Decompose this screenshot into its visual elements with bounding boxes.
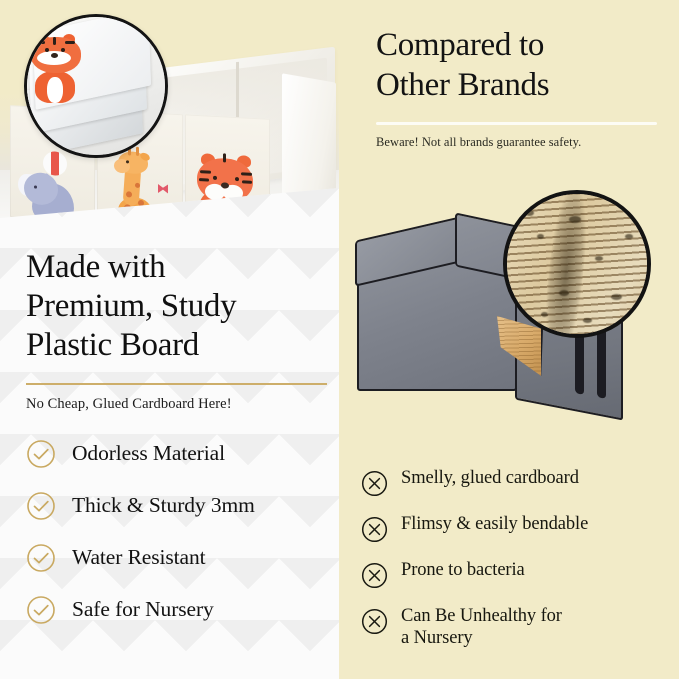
benefit-row: Safe for Nursery <box>26 595 317 625</box>
benefit-label: Safe for Nursery <box>72 597 214 622</box>
tiger-stripe <box>65 41 75 44</box>
benefits-list: Odorless Material Thick & Sturdy 3mm <box>26 439 317 625</box>
check-circle-icon <box>26 491 56 521</box>
mold-spot <box>559 290 569 296</box>
right-subline: Beware! Not all brands guarantee safety. <box>376 135 659 150</box>
mold-spot <box>569 216 581 223</box>
benefit-row: Water Resistant <box>26 543 317 573</box>
giraffe-spot <box>138 200 144 206</box>
left-subline: No Cheap, Glued Cardboard Here! <box>26 396 317 413</box>
elephant-eye <box>34 185 37 188</box>
moldy-cardboard-magnifier <box>503 190 651 338</box>
gold-divider <box>26 383 327 385</box>
tiger-print-detail <box>29 37 93 103</box>
giraffe-eye <box>126 160 129 163</box>
x-circle-icon <box>361 562 388 589</box>
drawback-label: Can Be Unhealthy for a Nursery <box>401 606 562 650</box>
mold-spot <box>611 294 622 300</box>
tiger-eye <box>61 48 65 52</box>
drawback-row: Prone to bacteria <box>361 560 671 589</box>
tiger-stripe <box>200 170 211 174</box>
drawback-label: Prone to bacteria <box>401 560 525 582</box>
mold-spot <box>595 256 603 261</box>
right-panel: Compared to Other Brands Beware! Not all… <box>339 0 679 679</box>
mold-spot <box>625 234 633 239</box>
butterfly-icon <box>158 184 168 194</box>
benefit-label: Thick & Sturdy 3mm <box>72 493 255 518</box>
drawbacks-list: Smelly, glued cardboard Flimsy & easily … <box>361 468 671 650</box>
giraffe-spot <box>126 191 132 197</box>
right-product-photo <box>339 190 679 455</box>
tiger-eye <box>213 176 217 180</box>
mold-spot <box>537 234 544 239</box>
drawback-label: Smelly, glued cardboard <box>401 468 579 490</box>
tiger-stripe <box>242 180 252 184</box>
check-circle-icon <box>26 439 56 469</box>
x-circle-icon <box>361 470 388 497</box>
check-circle-icon <box>26 543 56 573</box>
benefit-label: Odorless Material <box>72 441 225 466</box>
benefit-row: Thick & Sturdy 3mm <box>26 491 317 521</box>
mold-spot <box>525 210 534 216</box>
mold-spot <box>541 312 548 317</box>
benefit-label: Water Resistant <box>72 545 206 570</box>
benefit-row: Odorless Material <box>26 439 317 469</box>
tiger-stripe <box>241 172 252 176</box>
left-headline: Made with Premium, Study Plastic Board <box>26 248 317 365</box>
drawback-row: Can Be Unhealthy for a Nursery <box>361 606 671 650</box>
white-divider <box>376 122 657 125</box>
x-circle-icon <box>361 516 388 543</box>
tiger-nose <box>221 182 229 188</box>
drawback-label: Flimsy & easily bendable <box>401 514 588 536</box>
left-panel: Made with Premium, Study Plastic Board N… <box>0 0 339 679</box>
giraffe-spot <box>135 183 140 188</box>
drawback-row: Smelly, glued cardboard <box>361 468 671 497</box>
tiger-stripe <box>199 178 209 182</box>
tiger-eye <box>45 48 49 52</box>
tiger-belly <box>47 77 63 103</box>
check-circle-icon <box>26 595 56 625</box>
drawback-row: Flimsy & easily bendable <box>361 514 671 543</box>
tiger-nose <box>51 53 58 58</box>
plastic-board-magnifier <box>24 14 168 158</box>
tiger-eye <box>235 177 239 181</box>
x-circle-icon <box>361 608 388 635</box>
right-headline: Compared to Other Brands <box>376 26 659 105</box>
tiger-stripe <box>53 37 56 45</box>
infographic-canvas: Made with Premium, Study Plastic Board N… <box>0 0 679 679</box>
tiger-stripe <box>35 41 45 44</box>
tiger-stripe <box>223 153 226 162</box>
mold-spot <box>583 318 592 323</box>
